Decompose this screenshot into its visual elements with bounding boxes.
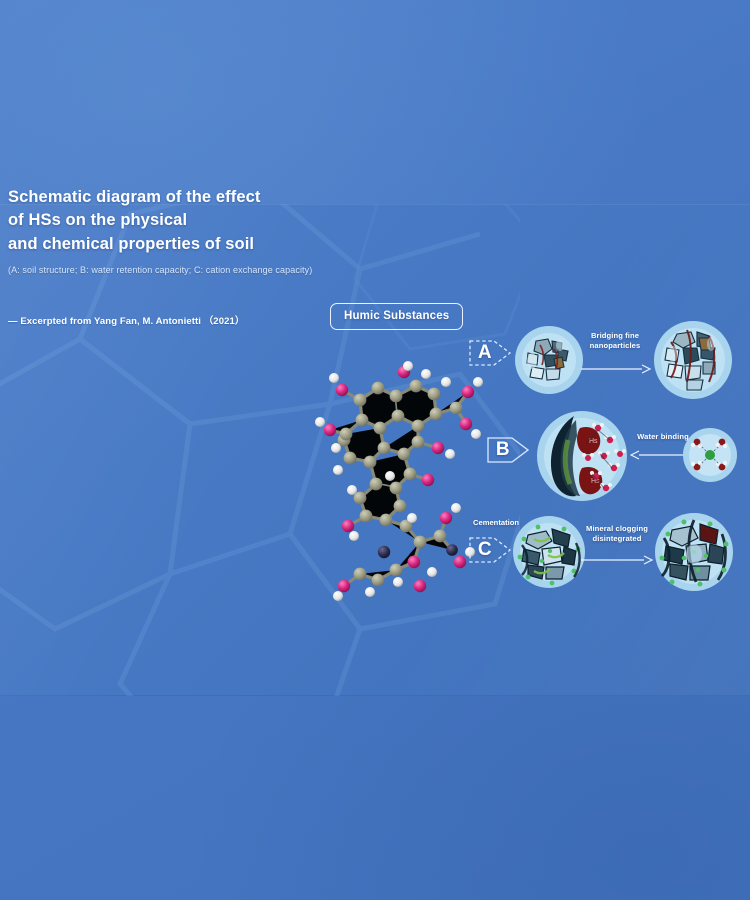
humic-water-retention-icon: Hs Hs — [536, 410, 628, 502]
flow-arrow-a-icon — [580, 362, 652, 376]
figure-stage: Schematic diagram of the effect of HSs o… — [0, 0, 750, 900]
badge-a-letter: A — [468, 333, 502, 373]
humic-substances-label: Humic Substances — [330, 303, 463, 330]
mineral-disintegrated-aggregate-icon — [654, 512, 734, 592]
title-line-1: Schematic diagram of the effect — [8, 188, 261, 206]
band-bottom-edge — [0, 695, 750, 696]
flow-label-bridging: Bridging fine nanoparticles — [576, 331, 654, 351]
water-molecule-cluster-icon — [682, 427, 738, 483]
title-line-2: of HSs on the physical — [8, 211, 187, 229]
title-subtitle: (A: soil structure; B: water retention c… — [8, 265, 338, 275]
page-title: Schematic diagram of the effect of HSs o… — [8, 186, 338, 256]
soil-aggregate-bridged-icon — [653, 320, 733, 400]
text-block: Schematic diagram of the effect of HSs o… — [8, 186, 338, 327]
flow-arrow-c-icon — [580, 553, 654, 567]
mineral-clogged-aggregate-icon — [512, 515, 586, 589]
title-line-3: and chemical properties of soil — [8, 235, 254, 253]
source-attribution: — Excerpted from Yang Fan, M. Antonietti… — [8, 313, 338, 327]
flow-label-mineral-clogging: Mineral clogging disintegrated — [576, 524, 658, 544]
badge-b-letter: B — [486, 430, 520, 470]
badge-c-letter: C — [468, 530, 502, 570]
soil-aggregate-loose-icon — [514, 325, 584, 395]
